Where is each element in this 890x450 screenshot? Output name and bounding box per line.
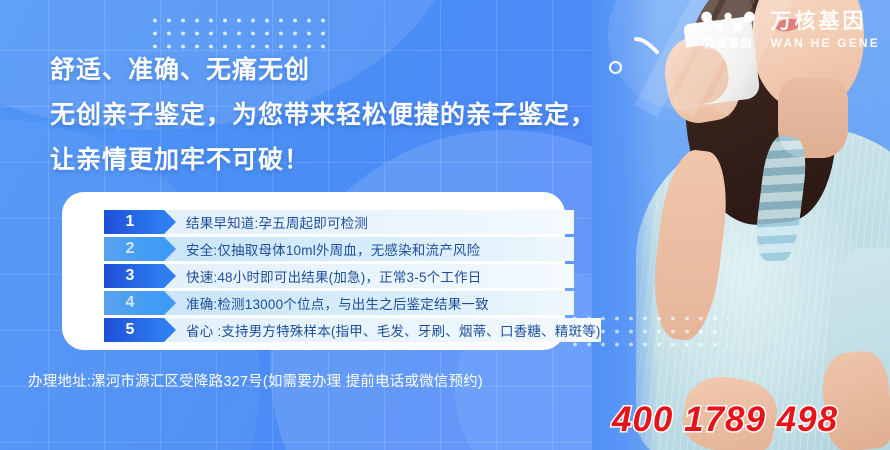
feature-text: 准确:检测13000个位点，与出生之后鉴定结果一致 [164, 291, 574, 315]
feature-text: 安全:仅抽取母体10ml外周血，无感染和流产风险 [164, 237, 574, 261]
brand-name-cn: 万核基因 [770, 11, 880, 32]
feature-text: 省心 :支持男方特殊样本(指甲、毛发、牙刷、烟蒂、口香糖、精斑等) [164, 318, 601, 342]
feature-row: 3 快速:48小时即可出结果(加急)，正常3-5个工作日 [104, 264, 574, 288]
feature-number-badge: 2 [104, 237, 164, 261]
decorative-ring-icon [609, 61, 622, 74]
dot-grid-top [148, 14, 334, 54]
feature-text: 结果早知道:孕五周起即可检测 [164, 210, 574, 234]
feature-number-badge: 1 [104, 210, 164, 234]
feature-list: 1 结果早知道:孕五周起即可检测 2 安全:仅抽取母体10ml外周血，无感染和流… [104, 210, 574, 342]
headline-line-3: 让亲情更加牢不可破！ [50, 140, 596, 176]
feature-row: 2 安全:仅抽取母体10ml外周血，无感染和流产风险 [104, 237, 574, 261]
feature-text: 快速:48小时即可出结果(加急)，正常3-5个工作日 [164, 264, 574, 288]
feature-number-badge: 4 [104, 291, 164, 315]
promo-banner: 万核基因 万核基因 WAN HE GENE 舒适、准确、无痛无创 无创亲子鉴定，… [0, 0, 890, 450]
brand-logo[interactable]: 万核基因 万核基因 WAN HE GENE [695, 9, 880, 51]
brand-wordmark: 万核基因 WAN HE GENE [770, 11, 880, 49]
decorative-swoosh-icon [634, 36, 660, 54]
feature-row: 1 结果早知道:孕五周起即可检测 [104, 210, 574, 234]
office-address: 办理地址:漯河市源汇区受降路327号(如需要办理 提前电话或微信预约) [28, 370, 483, 391]
headline-line-2: 无创亲子鉴定，为您带来轻松便捷的亲子鉴定， [50, 95, 596, 131]
feature-row: 4 准确:检测13000个位点，与出生之后鉴定结果一致 [104, 291, 574, 315]
feature-number-badge: 5 [104, 318, 164, 342]
molecule-icon: 万核基因 [695, 9, 761, 51]
feature-number-badge: 3 [104, 264, 164, 288]
headline-line-1: 舒适、准确、无痛无创 [50, 50, 596, 86]
contact-phone-number[interactable]: 400 1789 498 [612, 400, 838, 440]
feature-row: 5 省心 :支持男方特殊样本(指甲、毛发、牙刷、烟蒂、口香糖、精斑等) [104, 318, 574, 342]
logo-mark-label: 万核基因 [704, 35, 752, 51]
brand-name-en: WAN HE GENE [770, 37, 880, 49]
headline-block: 舒适、准确、无痛无创 无创亲子鉴定，为您带来轻松便捷的亲子鉴定， 让亲情更加牢不… [50, 50, 596, 176]
